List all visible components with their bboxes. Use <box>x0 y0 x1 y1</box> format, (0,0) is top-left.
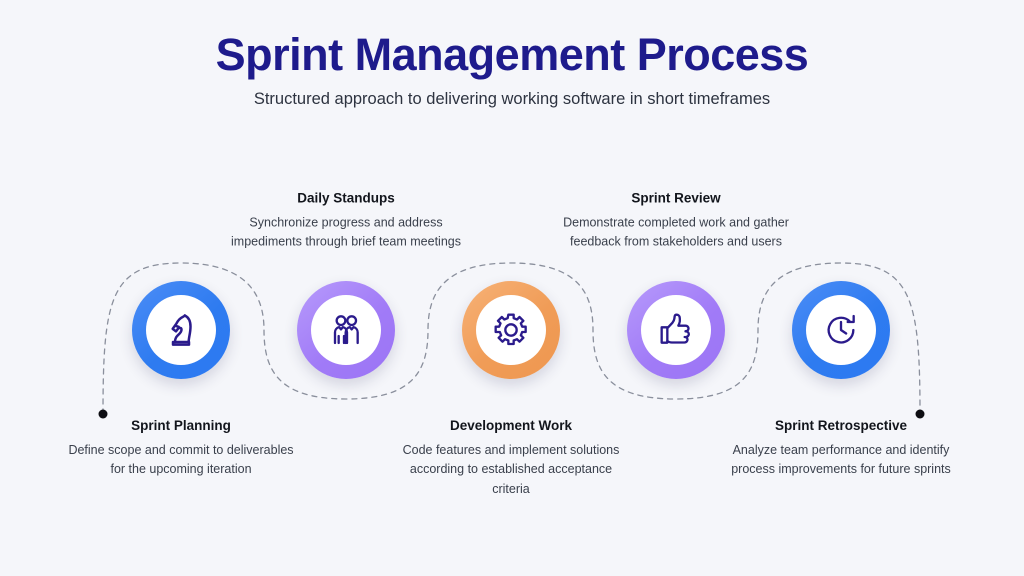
step-3-caption: Development Work Code features and imple… <box>396 418 626 499</box>
step-2-title: Daily Standups <box>231 190 461 207</box>
step-1-caption: Sprint Planning Define scope and commit … <box>66 418 296 480</box>
gear-icon <box>491 310 531 350</box>
step-5-description: Analyze team performance and identify pr… <box>726 441 956 480</box>
clock-arrow-icon <box>821 310 861 350</box>
chess-knight-icon <box>161 310 201 350</box>
thumbs-up-icon <box>656 310 696 350</box>
two-people-icon <box>326 310 366 350</box>
step-5-icon-badge[interactable] <box>792 281 890 379</box>
step-4-caption: Sprint Review Demonstrate completed work… <box>561 190 791 252</box>
step-4-description: Demonstrate completed work and gather fe… <box>561 213 791 252</box>
step-5-title: Sprint Retrospective <box>726 418 956 435</box>
step-3-title: Development Work <box>396 418 626 435</box>
step-3-icon-badge[interactable] <box>462 281 560 379</box>
step-1-title: Sprint Planning <box>66 418 296 435</box>
step-2-icon-badge[interactable] <box>297 281 395 379</box>
step-3-description: Code features and implement solutions ac… <box>396 441 626 499</box>
step-5-caption: Sprint Retrospective Analyze team perfor… <box>726 418 956 480</box>
step-1-description: Define scope and commit to deliverables … <box>66 441 296 480</box>
step-4-title: Sprint Review <box>561 190 791 207</box>
step-2-description: Synchronize progress and address impedim… <box>231 213 461 252</box>
step-4-icon-badge[interactable] <box>627 281 725 379</box>
step-2-caption: Daily Standups Synchronize progress and … <box>231 190 461 252</box>
step-1-icon-badge[interactable] <box>132 281 230 379</box>
infographic-canvas: Sprint Management Process Structured app… <box>0 0 1024 576</box>
